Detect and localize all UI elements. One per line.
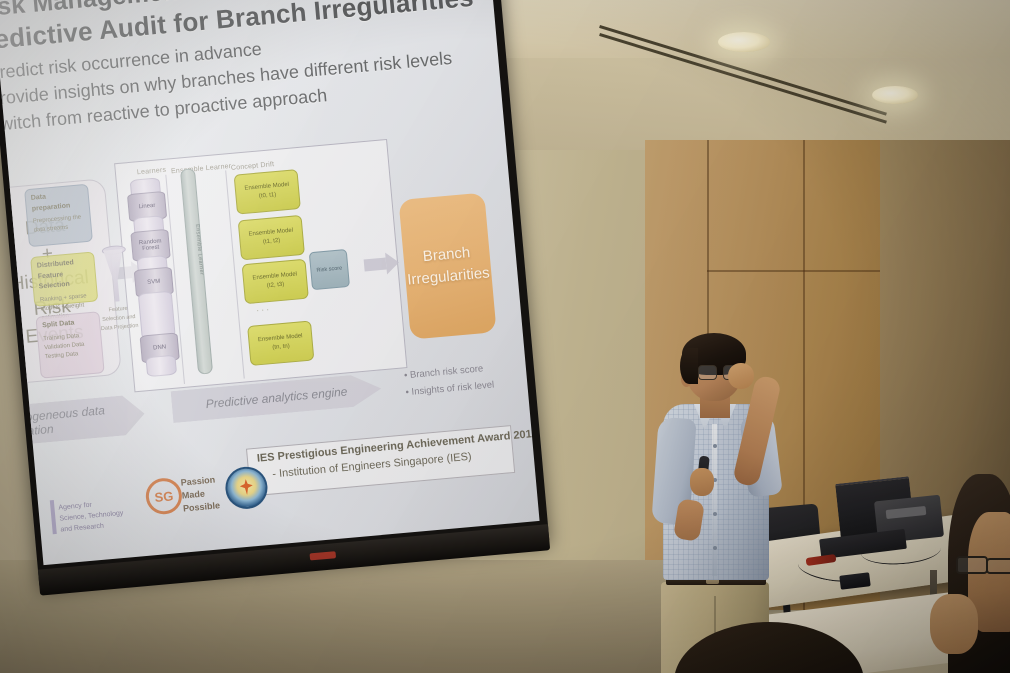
stage-title-2: Split Data [42, 317, 95, 332]
funnel-label: Feature Selection and Data Projection [99, 304, 139, 334]
cabinet-seam-h1 [707, 270, 895, 272]
sg-logo-icon: SG [144, 477, 183, 516]
learner-label-3: DNN [153, 344, 166, 351]
conference-room-photo: Risk Management Predictive Audit for Bra… [0, 0, 1010, 673]
presenter-shirt-button-3 [713, 512, 717, 516]
drift-model-0-line2: (t0, t1) [259, 191, 277, 202]
stage-split-data: Split Data Training Data Validation Data… [35, 311, 104, 378]
stage-item-2-1: Validation Data [44, 341, 85, 351]
presenter-shirt-button-1 [713, 444, 717, 448]
astar-logo-text: Agency for Science, Technology and Resea… [58, 496, 149, 536]
stage-title-0: Data preparation [30, 189, 84, 215]
learner-label-1: Random Forest [132, 238, 169, 253]
arrow-engine-to-output [364, 258, 387, 272]
audience-right-eyeglasses [956, 556, 1010, 570]
risk-score-box: Risk score [309, 249, 350, 290]
downlight-icon [718, 32, 770, 52]
sg-tagline: Passion Made Possible [180, 473, 220, 515]
presenter-hair-side [680, 348, 698, 384]
cylinder-bottom-cap [145, 355, 177, 378]
presenter-shirt-button-4 [713, 546, 717, 550]
drift-model-1: Ensemble Model (t1, t2) [238, 215, 305, 261]
drift-model-3: Ensemble Model (tn, tn) [247, 320, 314, 366]
slide-content: Risk Management Predictive Audit for Bra… [0, 0, 540, 565]
stage-item-0-0: Preprocessing the data streams [33, 214, 82, 233]
projector-screen: Risk Management Predictive Audit for Bra… [0, 0, 550, 596]
drift-model-1-line2: (t1, t2) [263, 237, 281, 248]
sg-tagline-line3: Possible [183, 499, 221, 515]
stage-data-preparation: Data preparation Preprocessing the data … [24, 184, 93, 247]
audience-right-hand [930, 594, 978, 654]
drift-model-0: Ensemble Model (t0, t1) [234, 169, 301, 215]
drift-model-3-line2: (tn, tn) [272, 342, 290, 353]
presenter-right-hand [728, 363, 754, 389]
drift-ellipsis: . . . [255, 304, 270, 312]
stage-item-2-2: Testing Data [45, 351, 79, 360]
right-notes: • Branch risk score • Insights of risk l… [403, 358, 525, 402]
learner-label-2: SVM [147, 279, 160, 286]
drift-model-2: Ensemble Model (t2, t3) [242, 259, 309, 305]
learner-label-0: Linear [138, 203, 155, 210]
drift-model-2-line2: (t2, t3) [267, 281, 285, 292]
presenter-left-hand [690, 468, 714, 496]
stage-item-2-0: Training Data [43, 333, 79, 342]
stage-title-1: Distributed Feature Selection [37, 257, 92, 293]
screen-surface: Risk Management Predictive Audit for Bra… [0, 0, 540, 565]
stage-feature-selection: Distributed Feature Selection Ranking + … [30, 251, 98, 306]
output-branch-irregularities: Branch Irregularities [398, 193, 496, 340]
downlight-icon-2 [872, 86, 918, 104]
astar-logo-bar [50, 500, 57, 534]
